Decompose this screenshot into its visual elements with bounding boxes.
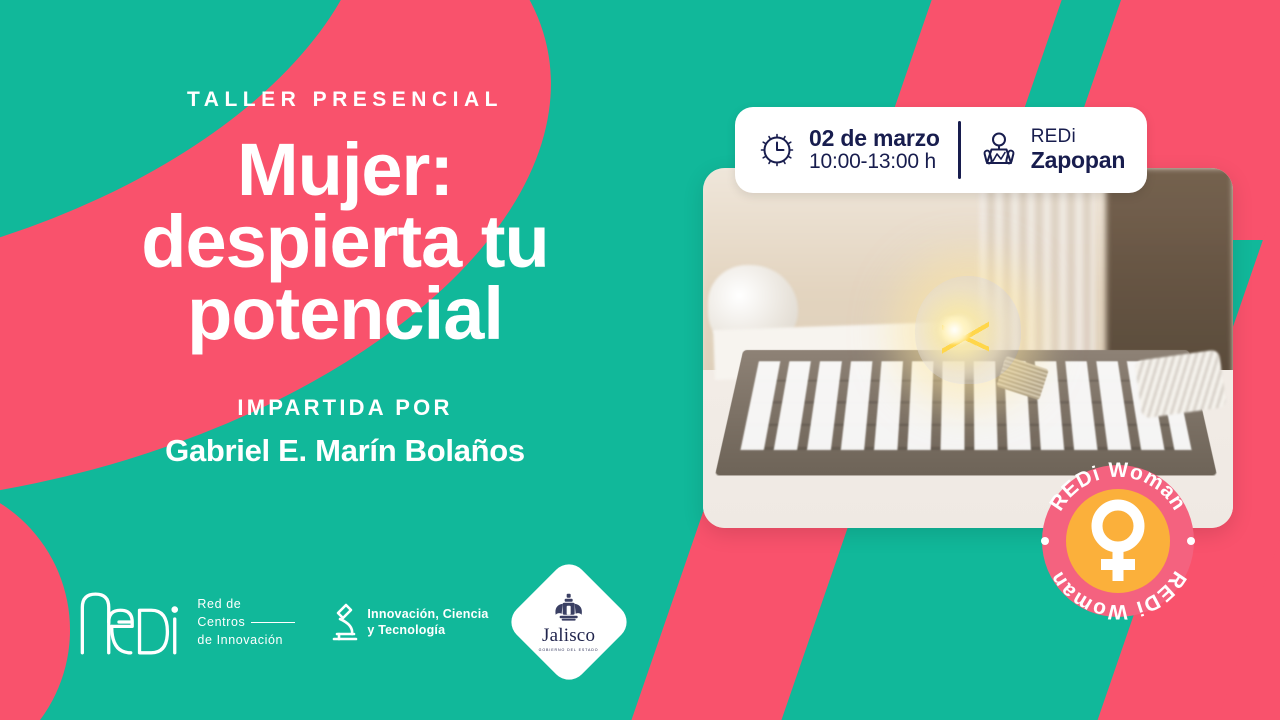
jalisco-logo: Jalisco GOBIERNO DEL ESTADO	[504, 557, 634, 687]
event-info-pill: 02 de marzo 10:00-13:00 h REDi Zapopan	[735, 107, 1147, 193]
title-line-1: Mujer:	[141, 134, 548, 206]
redi-dot	[172, 606, 179, 613]
photo-bulb-glow	[936, 316, 973, 345]
ict-logo-words: Innovación, Ciencia y Tecnología	[367, 606, 488, 639]
date-time-text: 02 de marzo 10:00-13:00 h	[809, 126, 940, 174]
redi-word-line-2: Centros	[197, 615, 245, 629]
jalisco-coat-of-arms-icon	[552, 593, 586, 623]
poster-kicker: TALLER PRESENCIAL	[187, 88, 503, 112]
pill-divider	[958, 121, 961, 179]
photo-spiral-notebook	[1134, 350, 1226, 419]
badge-dot-right	[1187, 537, 1195, 545]
title-line-2: despierta tu	[141, 206, 548, 278]
jalisco-name: Jalisco	[542, 625, 595, 647]
date-time-block: 02 de marzo 10:00-13:00 h	[757, 126, 940, 174]
venue-city: Zapopan	[1031, 148, 1125, 173]
event-time: 10:00-13:00 h	[809, 151, 940, 174]
poster-title: Mujer: despierta tu potencial	[141, 134, 548, 349]
redi-word-line-3: de Innovación	[197, 631, 295, 649]
microscope-icon	[329, 601, 359, 643]
redi-logo: Red de Centros de Innovación	[75, 585, 295, 659]
clock-icon	[757, 130, 797, 170]
redi-word-line-1: Red de	[197, 595, 295, 613]
redi-logo-mark	[75, 585, 185, 659]
venue-brand: REDi	[1031, 127, 1125, 148]
byline-name: Gabriel E. Marín Bolaños	[165, 433, 525, 469]
byline-label: IMPARTIDA POR	[237, 395, 452, 421]
event-date: 02 de marzo	[809, 126, 940, 151]
redi-woman-badge: REDi Woman REDi Woman	[1032, 455, 1204, 627]
ict-line-1: Innovación, Ciencia	[367, 606, 488, 622]
person-map-icon	[979, 130, 1019, 170]
badge-dot-left	[1041, 537, 1049, 545]
redi-word-line-2-wrap: Centros	[197, 613, 295, 631]
ict-logo: Innovación, Ciencia y Tecnología	[329, 601, 488, 643]
title-line-3: potencial	[187, 278, 503, 350]
redi-word-rule	[251, 622, 295, 623]
sponsor-logo-strip: Red de Centros de Innovación Innovación,…	[0, 576, 690, 668]
jalisco-logo-inner: Jalisco GOBIERNO DEL ESTADO	[539, 593, 599, 652]
event-poster: 02 de marzo 10:00-13:00 h REDi Zapopan	[0, 0, 1280, 720]
venue-block: REDi Zapopan	[979, 127, 1125, 172]
ict-line-2: y Tecnología	[367, 622, 488, 638]
redi-logo-words: Red de Centros de Innovación	[197, 595, 295, 649]
jalisco-subtitle: GOBIERNO DEL ESTADO	[539, 648, 599, 652]
venue-text: REDi Zapopan	[1031, 127, 1125, 172]
